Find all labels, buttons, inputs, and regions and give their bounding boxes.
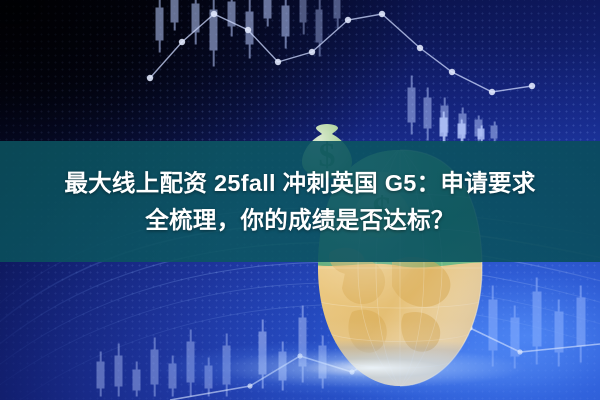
headline: 最大线上配资 25fall 冲刺英国 G5：申请要求 全梳理，你的成绩是否达标？ [0,141,600,262]
headline-line-1: 最大线上配资 25fall 冲刺英国 G5：申请要求 [64,168,535,198]
headline-line-2: 全梳理，你的成绩是否达标？ [145,205,454,235]
banner-image: $ $ 最大线上配资 25fall 冲刺英国 G5：申请要求 全梳理，你的成绩是… [0,0,600,400]
